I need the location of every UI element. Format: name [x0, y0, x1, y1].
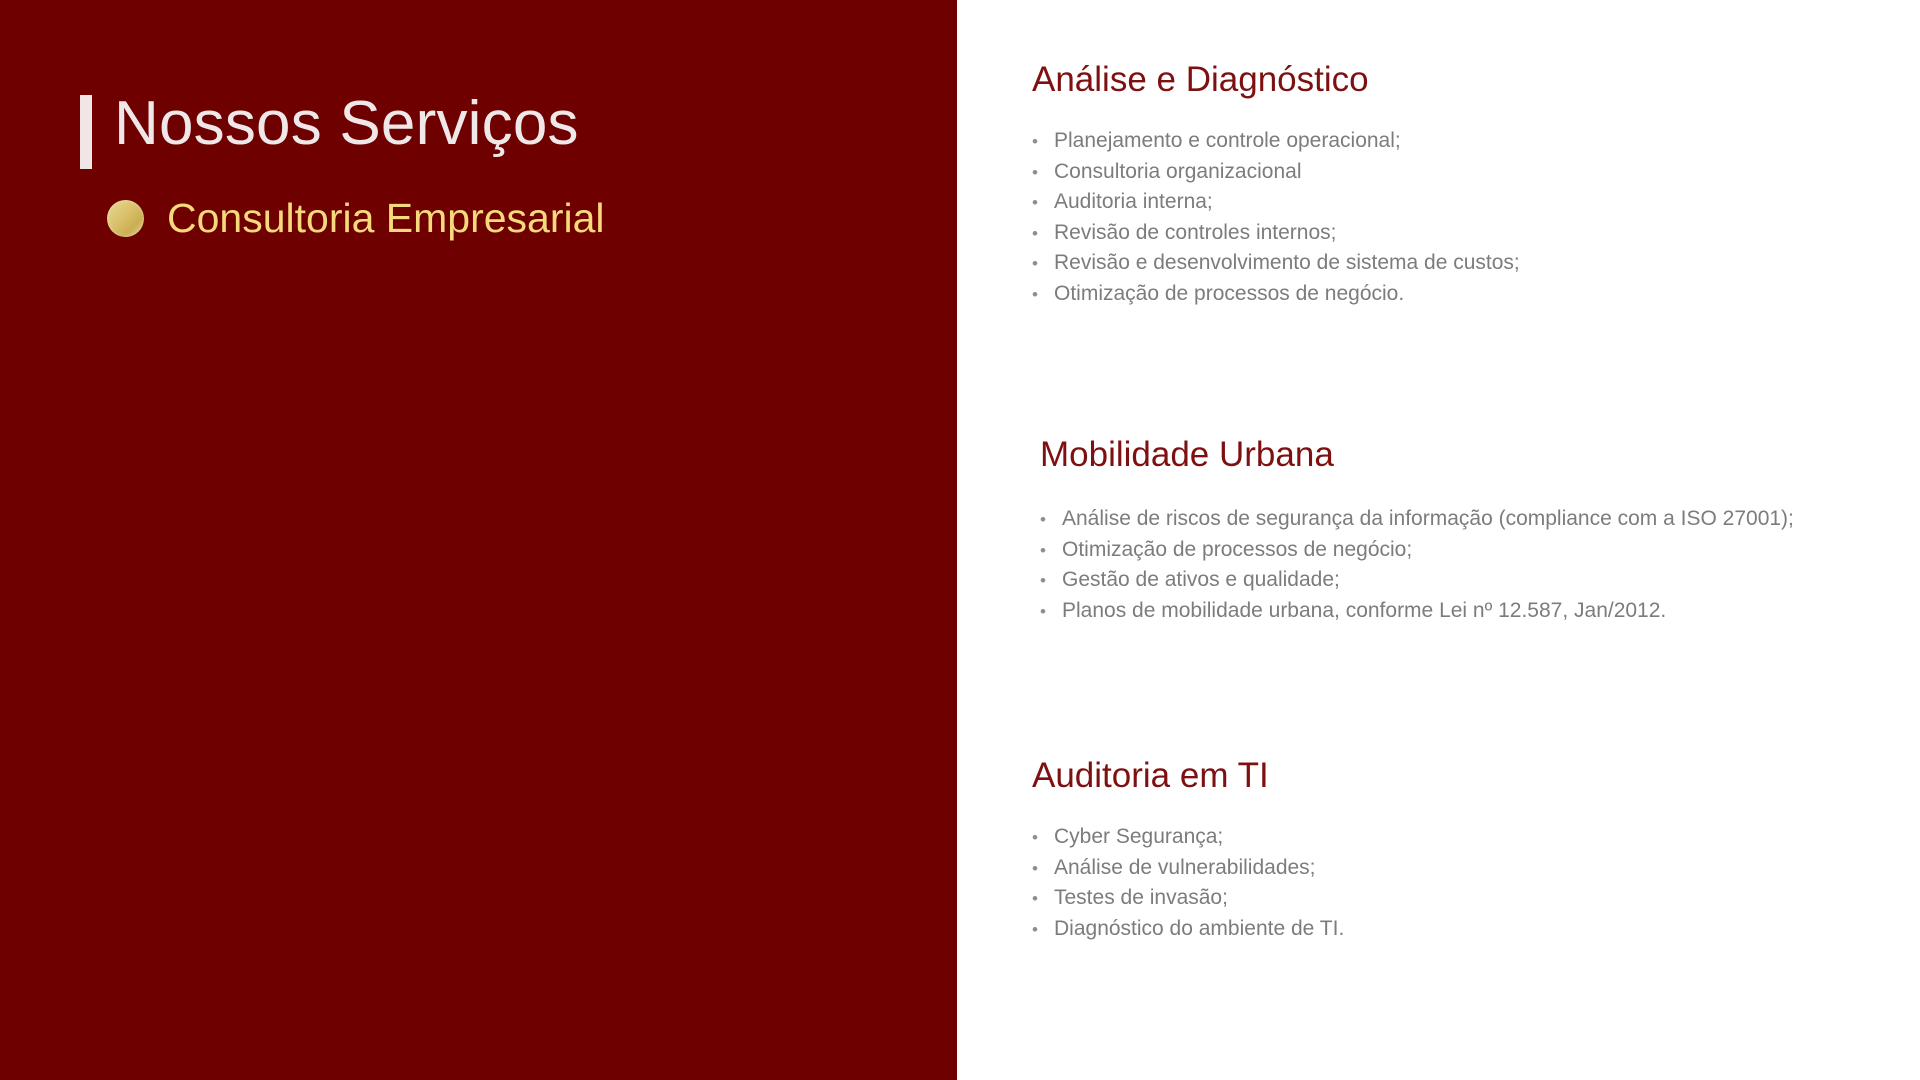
- bullet-dot-icon: •: [1032, 884, 1054, 914]
- section-auditoria-em-ti: Auditoria em TI • Cyber Segurança; • Aná…: [1032, 756, 1910, 944]
- section-title: Análise e Diagnóstico: [1032, 60, 1910, 100]
- bullet-dot-icon: •: [1040, 505, 1062, 535]
- bullet-list: • Cyber Segurança; • Análise de vulnerab…: [1032, 822, 1910, 944]
- list-item-label: Cyber Segurança;: [1054, 822, 1223, 852]
- list-item-label: Planejamento e controle operacional;: [1054, 126, 1401, 156]
- list-item-label: Otimização de processos de negócio;: [1062, 535, 1412, 565]
- slide-subtitle: Consultoria Empresarial: [144, 197, 605, 240]
- bullet-dot-icon: •: [1032, 823, 1054, 853]
- list-item: • Gestão de ativos e qualidade;: [1040, 565, 1910, 596]
- list-item: • Otimização de processos de negócio.: [1032, 279, 1910, 310]
- list-item: • Otimização de processos de negócio;: [1040, 535, 1910, 566]
- bullet-dot-icon: •: [1032, 249, 1054, 279]
- list-item-label: Testes de invasão;: [1054, 883, 1228, 913]
- bullet-dot-icon: •: [1032, 915, 1054, 945]
- bullet-dot-icon: •: [1032, 127, 1054, 157]
- list-item: • Consultoria organizacional: [1032, 157, 1910, 188]
- list-item-label: Otimização de processos de negócio.: [1054, 279, 1404, 309]
- list-item: • Planos de mobilidade urbana, conforme …: [1040, 596, 1910, 627]
- list-item: • Auditoria interna;: [1032, 187, 1910, 218]
- list-item: • Planejamento e controle operacional;: [1032, 126, 1910, 157]
- bullet-dot-icon: •: [1032, 854, 1054, 884]
- slide-title: Nossos Serviços: [92, 93, 579, 155]
- bullet-dot-icon: •: [1032, 219, 1054, 249]
- list-item: • Testes de invasão;: [1032, 883, 1910, 914]
- bullet-dot-icon: •: [1032, 280, 1054, 310]
- bullet-list: • Planejamento e controle operacional; •…: [1032, 126, 1910, 309]
- list-item: • Análise de riscos de segurança da info…: [1040, 504, 1910, 535]
- bullet-dot-icon: •: [1040, 597, 1062, 627]
- list-item: • Análise de vulnerabilidades;: [1032, 853, 1910, 884]
- list-item: • Diagnóstico do ambiente de TI.: [1032, 914, 1910, 945]
- list-item-label: Revisão e desenvolvimento de sistema de …: [1054, 248, 1520, 278]
- list-item-label: Análise de riscos de segurança da inform…: [1062, 504, 1794, 534]
- content-area: Análise e Diagnóstico • Planejamento e c…: [957, 0, 1920, 1080]
- left-title-panel: Nossos Serviços Consultoria Empresarial: [0, 0, 957, 1080]
- bullet-dot-icon: •: [1032, 158, 1054, 188]
- list-item-label: Análise de vulnerabilidades;: [1054, 853, 1316, 883]
- bullet-dot-icon: •: [1040, 566, 1062, 596]
- list-item-label: Diagnóstico do ambiente de TI.: [1054, 914, 1344, 944]
- section-title: Auditoria em TI: [1032, 756, 1910, 796]
- bullet-list: • Análise de riscos de segurança da info…: [1032, 504, 1910, 626]
- section-title: Mobilidade Urbana: [1032, 435, 1910, 475]
- presentation-slide: Nossos Serviços Consultoria Empresarial …: [0, 0, 1920, 1080]
- subtitle-row: Consultoria Empresarial: [107, 197, 605, 240]
- list-item-label: Planos de mobilidade urbana, conforme Le…: [1062, 596, 1666, 626]
- list-item-label: Consultoria organizacional: [1054, 157, 1301, 187]
- vertical-accent-bar-icon: [80, 95, 92, 169]
- title-block: Nossos Serviços: [80, 93, 579, 169]
- bullet-dot-icon: •: [1040, 536, 1062, 566]
- bullet-dot-icon: •: [1032, 188, 1054, 218]
- section-mobilidade-urbana: Mobilidade Urbana • Análise de riscos de…: [1032, 435, 1910, 626]
- list-item: • Revisão e desenvolvimento de sistema d…: [1032, 248, 1910, 279]
- section-analise-e-diagnostico: Análise e Diagnóstico • Planejamento e c…: [1032, 60, 1910, 309]
- list-item-label: Revisão de controles internos;: [1054, 218, 1337, 248]
- list-item: • Revisão de controles internos;: [1032, 218, 1910, 249]
- list-item-label: Gestão de ativos e qualidade;: [1062, 565, 1340, 595]
- list-item: • Cyber Segurança;: [1032, 822, 1910, 853]
- gold-circle-icon: [107, 200, 144, 237]
- list-item-label: Auditoria interna;: [1054, 187, 1213, 217]
